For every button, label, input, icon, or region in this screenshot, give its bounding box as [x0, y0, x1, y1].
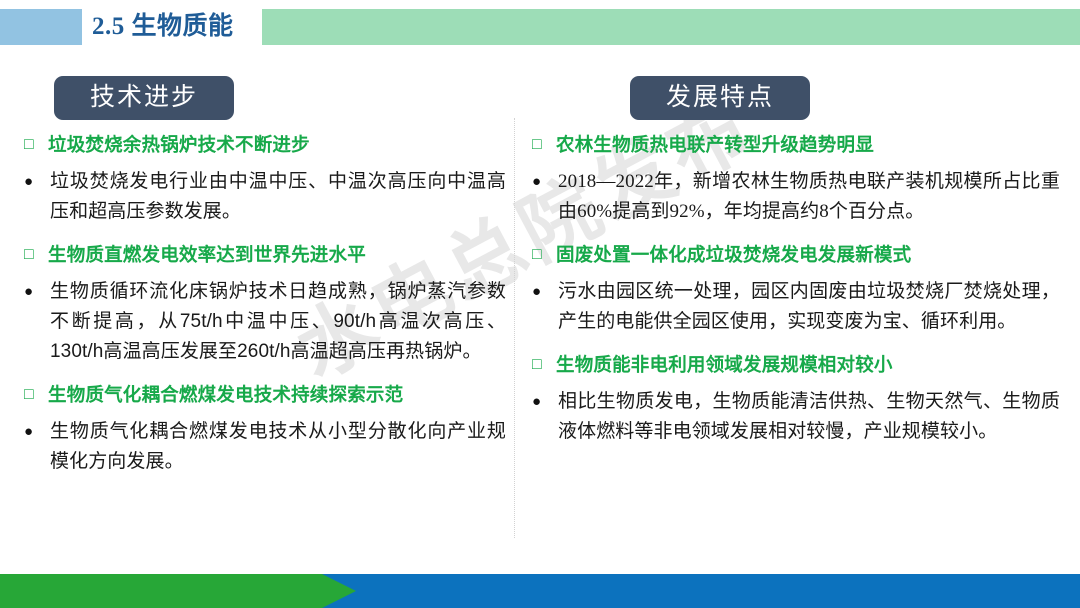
block-heading: □ 生物质直燃发电效率达到世界先进水平	[24, 242, 506, 268]
column-divider	[514, 118, 515, 538]
block-bullet-text: 生物质循环流化床锅炉技术日趋成熟，锅炉蒸汽参数不断提高，从75t/h中温中压、9…	[50, 277, 506, 367]
block-bullet: ● 2018—2022年，新增农林生物质热电联产装机规模所占比重由60%提高到9…	[532, 167, 1060, 227]
block-bullet: ● 生物质循环流化床锅炉技术日趋成熟，锅炉蒸汽参数不断提高，从75t/h中温中压…	[24, 277, 506, 367]
block-bullet: ● 垃圾焚烧发电行业由中温中压、中温次高压向中温高压和超高压参数发展。	[24, 167, 506, 227]
block-bullet-text: 2018—2022年，新增农林生物质热电联产装机规模所占比重由60%提高到92%…	[558, 167, 1060, 227]
square-bullet-icon: □	[24, 132, 48, 158]
round-bullet-icon: ●	[24, 417, 50, 447]
round-bullet-icon: ●	[532, 277, 558, 307]
round-bullet-icon: ●	[24, 277, 50, 307]
block-heading-text: 垃圾焚烧余热锅炉技术不断进步	[48, 132, 506, 158]
content-block: □ 固废处置一体化成垃圾焚烧发电发展新模式 ● 污水由园区统一处理，园区内固废由…	[532, 242, 1060, 337]
block-bullet-text: 垃圾焚烧发电行业由中温中压、中温次高压向中温高压和超高压参数发展。	[50, 167, 506, 227]
round-bullet-icon: ●	[532, 387, 558, 417]
block-heading-text: 生物质气化耦合燃煤发电技术持续探索示范	[48, 382, 506, 408]
content-block: □ 垃圾焚烧余热锅炉技术不断进步 ● 垃圾焚烧发电行业由中温中压、中温次高压向中…	[24, 132, 506, 227]
block-bullet-text: 污水由园区统一处理，园区内固废由垃圾焚烧厂焚烧处理，产生的电能供全园区使用，实现…	[558, 277, 1060, 337]
block-bullet: ● 生物质气化耦合燃煤发电技术从小型分散化向产业规模化方向发展。	[24, 417, 506, 477]
square-bullet-icon: □	[24, 242, 48, 268]
block-heading-text: 农林生物质热电联产转型升级趋势明显	[556, 132, 1060, 158]
left-content-column: □ 垃圾焚烧余热锅炉技术不断进步 ● 垃圾焚烧发电行业由中温中压、中温次高压向中…	[24, 132, 506, 492]
square-bullet-icon: □	[24, 382, 48, 408]
block-bullet: ● 相比生物质发电，生物质能清洁供热、生物天然气、生物质液体燃料等非电领域发展相…	[532, 387, 1060, 447]
header-blue-accent-block	[0, 9, 82, 45]
right-content-column: □ 农林生物质热电联产转型升级趋势明显 ● 2018—2022年，新增农林生物质…	[532, 132, 1060, 462]
square-bullet-icon: □	[532, 242, 556, 268]
round-bullet-icon: ●	[24, 167, 50, 197]
header-green-band	[262, 9, 1080, 45]
block-heading: □ 农林生物质热电联产转型升级趋势明显	[532, 132, 1060, 158]
block-bullet: ● 污水由园区统一处理，园区内固废由垃圾焚烧厂焚烧处理，产生的电能供全园区使用，…	[532, 277, 1060, 337]
block-heading: □ 固废处置一体化成垃圾焚烧发电发展新模式	[532, 242, 1060, 268]
block-heading-text: 生物质直燃发电效率达到世界先进水平	[48, 242, 506, 268]
block-heading: □ 生物质能非电利用领域发展规模相对较小	[532, 352, 1060, 378]
content-block: □ 生物质能非电利用领域发展规模相对较小 ● 相比生物质发电，生物质能清洁供热、…	[532, 352, 1060, 447]
block-heading-text: 固废处置一体化成垃圾焚烧发电发展新模式	[556, 242, 1060, 268]
round-bullet-icon: ●	[532, 167, 558, 197]
block-heading: □ 生物质气化耦合燃煤发电技术持续探索示范	[24, 382, 506, 408]
block-bullet-text: 生物质气化耦合燃煤发电技术从小型分散化向产业规模化方向发展。	[50, 417, 506, 477]
section-header-technology-progress: 技术进步	[54, 76, 234, 120]
content-block: □ 生物质气化耦合燃煤发电技术持续探索示范 ● 生物质气化耦合燃煤发电技术从小型…	[24, 382, 506, 477]
section-header-development-features: 发展特点	[630, 76, 810, 120]
block-heading-text: 生物质能非电利用领域发展规模相对较小	[556, 352, 1060, 378]
square-bullet-icon: □	[532, 132, 556, 158]
footer-bar-green-chevron	[0, 574, 356, 608]
footer-bar	[0, 574, 1080, 608]
block-bullet-text: 相比生物质发电，生物质能清洁供热、生物天然气、生物质液体燃料等非电领域发展相对较…	[558, 387, 1060, 447]
content-block: □ 生物质直燃发电效率达到世界先进水平 ● 生物质循环流化床锅炉技术日趋成熟，锅…	[24, 242, 506, 367]
block-heading: □ 垃圾焚烧余热锅炉技术不断进步	[24, 132, 506, 158]
page-title: 2.5 生物质能	[92, 8, 234, 46]
square-bullet-icon: □	[532, 352, 556, 378]
content-block: □ 农林生物质热电联产转型升级趋势明显 ● 2018—2022年，新增农林生物质…	[532, 132, 1060, 227]
slide-header: 2.5 生物质能	[0, 0, 1080, 56]
